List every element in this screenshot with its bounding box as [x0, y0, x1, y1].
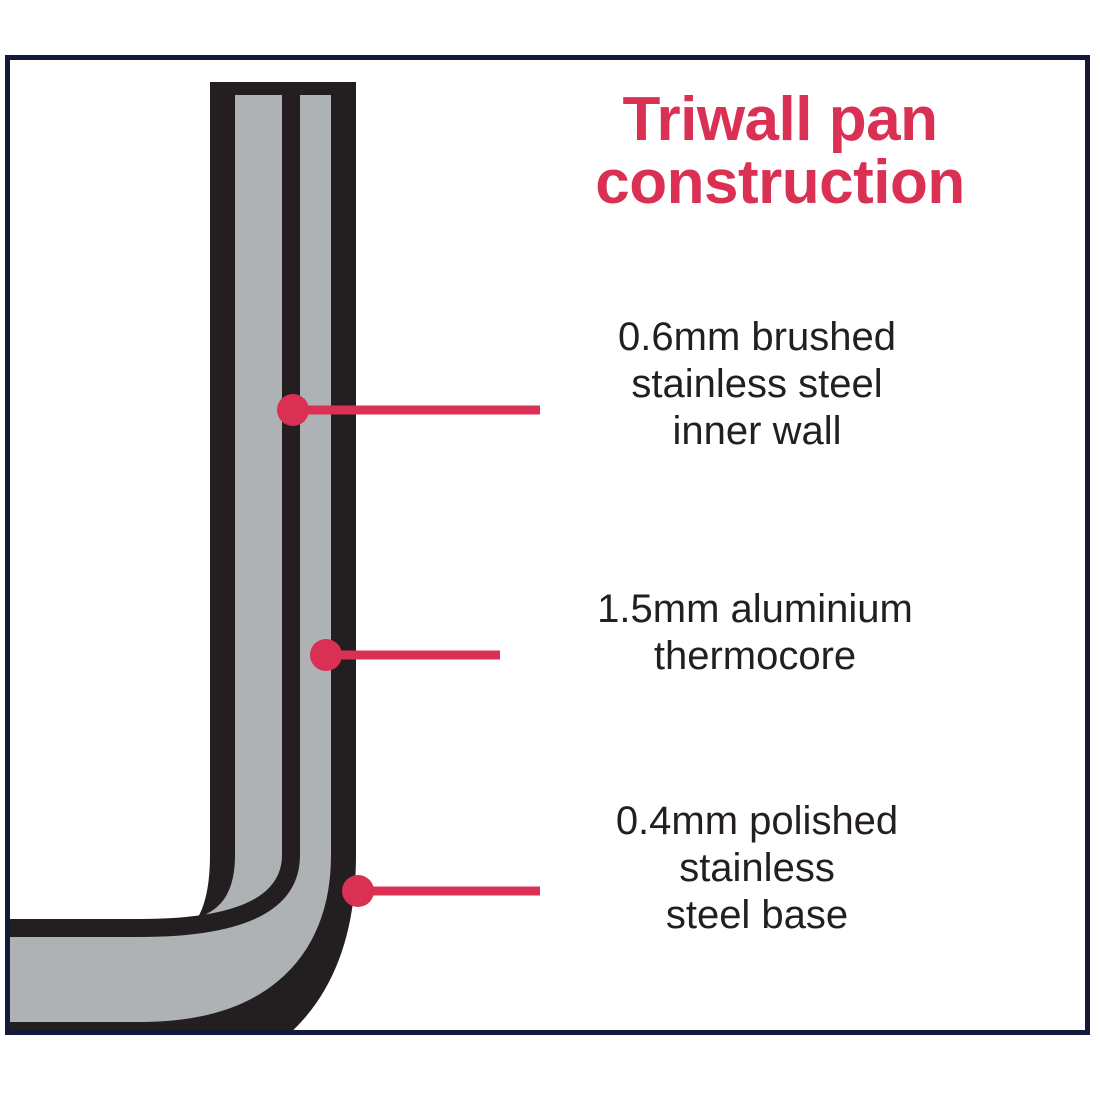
callout-steel-base-line-3: steel base [512, 892, 1002, 939]
page-title-line-1: Triwall pan [623, 85, 938, 154]
leader-dot-steel-base [342, 875, 374, 907]
callout-inner-wall-line-3: inner wall [512, 408, 1002, 455]
callout-thermocore: 1.5mm aluminium thermocore [505, 586, 1005, 680]
leader-dot-inner-wall [277, 394, 309, 426]
page-title: Triwall pan construction [510, 88, 1050, 214]
callout-thermocore-line-1: 1.5mm aluminium [505, 586, 1005, 633]
callout-inner-wall-line-1: 0.6mm brushed [512, 314, 1002, 361]
callout-thermocore-line-2: thermocore [505, 633, 1005, 680]
page-title-line-2: construction [510, 151, 1050, 214]
callout-steel-base-line-1: 0.4mm polished [512, 798, 1002, 845]
triwall-pan-infographic: Triwall pan construction 0.6mm brushed s… [0, 0, 1100, 1100]
callout-steel-base-line-2: stainless [512, 845, 1002, 892]
leader-dot-thermocore [310, 639, 342, 671]
callout-inner-wall-line-2: stainless steel [512, 361, 1002, 408]
callout-steel-base: 0.4mm polished stainless steel base [512, 798, 1002, 940]
callout-inner-wall: 0.6mm brushed stainless steel inner wall [512, 314, 1002, 456]
